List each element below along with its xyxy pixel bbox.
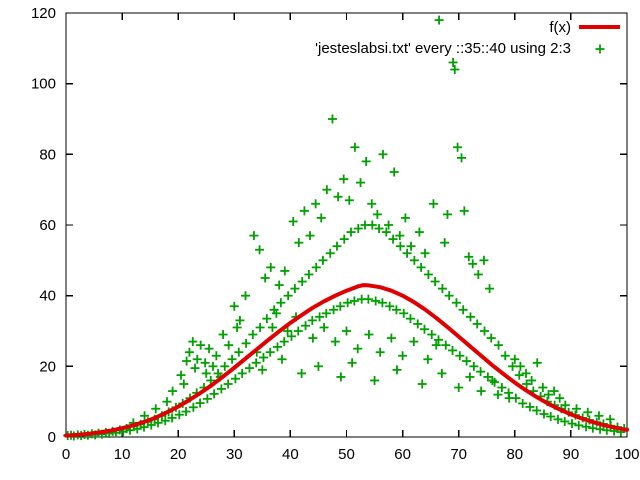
x-tick-label: 90 xyxy=(563,446,580,463)
y-axis-tick-labels: 020406080100120 xyxy=(31,5,56,446)
y-tick-label: 120 xyxy=(31,5,56,22)
y-tick-label: 40 xyxy=(39,288,56,305)
y-tick-label: 20 xyxy=(39,358,56,375)
x-tick-label: 70 xyxy=(450,446,467,463)
y-tick-label: 100 xyxy=(31,76,56,93)
x-tick-label: 50 xyxy=(338,446,355,463)
y-tick-label: 60 xyxy=(39,217,56,234)
x-tick-label: 20 xyxy=(170,446,187,463)
x-tick-label: 30 xyxy=(226,446,243,463)
y-tick-label: 0 xyxy=(48,429,56,446)
gnuplot-figure: 0102030405060708090100 020406080100120 f… xyxy=(0,0,640,480)
x-axis-tick-labels: 0102030405060708090100 xyxy=(62,446,640,463)
x-tick-label: 40 xyxy=(282,446,299,463)
x-tick-label: 0 xyxy=(62,446,70,463)
x-tick-label: 10 xyxy=(114,446,131,463)
y-tick-label: 80 xyxy=(39,146,56,163)
x-tick-label: 80 xyxy=(506,446,523,463)
x-tick-label: 60 xyxy=(394,446,411,463)
plot-background xyxy=(66,13,627,437)
legend-label-fx: f(x) xyxy=(549,19,571,36)
chart-canvas: 0102030405060708090100 020406080100120 f… xyxy=(0,0,640,480)
x-tick-label: 100 xyxy=(614,446,639,463)
plot-frame xyxy=(66,13,627,437)
legend-label-datafile: 'jesteslabsi.txt' every ::35::40 using 2… xyxy=(315,40,571,57)
